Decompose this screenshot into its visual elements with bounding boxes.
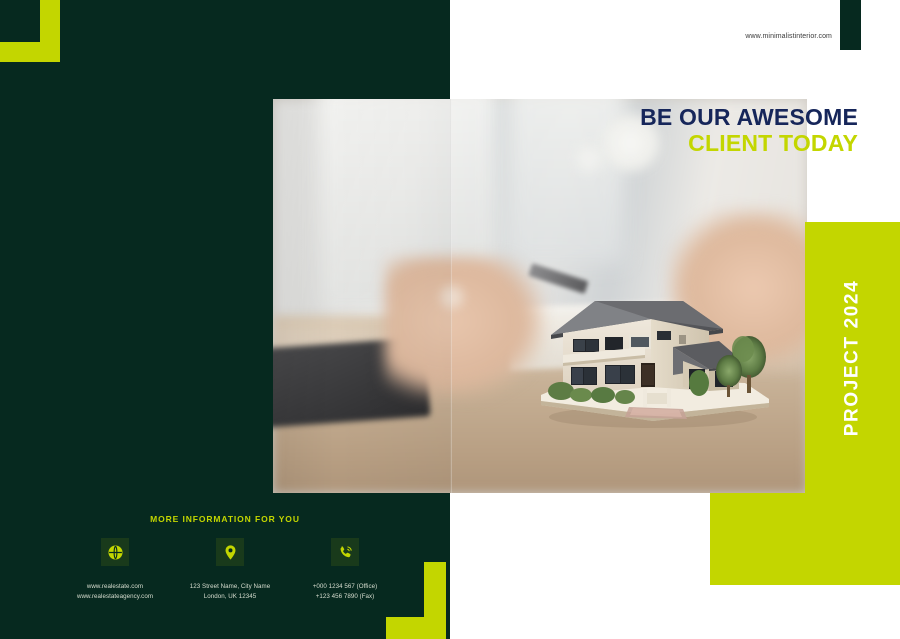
contact-item-website: www.realestate.com www.realestateagency.… — [60, 538, 170, 602]
contact-text-line: www.realestate.com — [60, 582, 170, 592]
brochure-canvas: www.minimalistinterior.com — [0, 0, 900, 639]
footer-heading: MORE INFORMATION FOR YOU — [0, 514, 450, 524]
hero-photo — [273, 99, 807, 493]
headline: BE OUR AWESOME CLIENT TODAY — [470, 105, 858, 157]
lime-panel-lower — [710, 493, 900, 585]
top-right-dark-bar — [840, 0, 861, 50]
project-label: PROJECT 2024 — [805, 222, 900, 493]
photo-hand-left — [385, 257, 545, 399]
contact-item-phone: +000 1234 567 (Office) +123 456 7890 (Fa… — [290, 538, 400, 602]
contact-text-line: +123 456 7890 (Fax) — [290, 592, 400, 602]
contact-text-line: www.realestateagency.com — [60, 592, 170, 602]
project-label-text: PROJECT 2024 — [842, 279, 864, 436]
contact-text-line: London, UK 12345 — [175, 592, 285, 602]
photo-fold-seam — [450, 99, 452, 493]
phone-icon — [331, 538, 359, 566]
contact-list: www.realestate.com www.realestateagency.… — [60, 538, 400, 602]
photo-inner — [273, 99, 807, 493]
globe-icon — [101, 538, 129, 566]
corner-bracket-top-left — [0, 0, 75, 62]
contact-text-line: +000 1234 567 (Office) — [290, 582, 400, 592]
map-pin-icon — [216, 538, 244, 566]
bracket-horizontal-arm — [0, 42, 60, 62]
headline-line-1: BE OUR AWESOME — [470, 105, 858, 131]
headline-line-2: CLIENT TODAY — [470, 131, 858, 157]
contact-item-address: 123 Street Name, City Name London, UK 12… — [175, 538, 285, 602]
contact-text-line: 123 Street Name, City Name — [175, 582, 285, 592]
site-url: www.minimalistinterior.com — [700, 33, 832, 40]
miniature-house-model — [533, 291, 779, 431]
bracket-horizontal-arm — [386, 617, 446, 639]
